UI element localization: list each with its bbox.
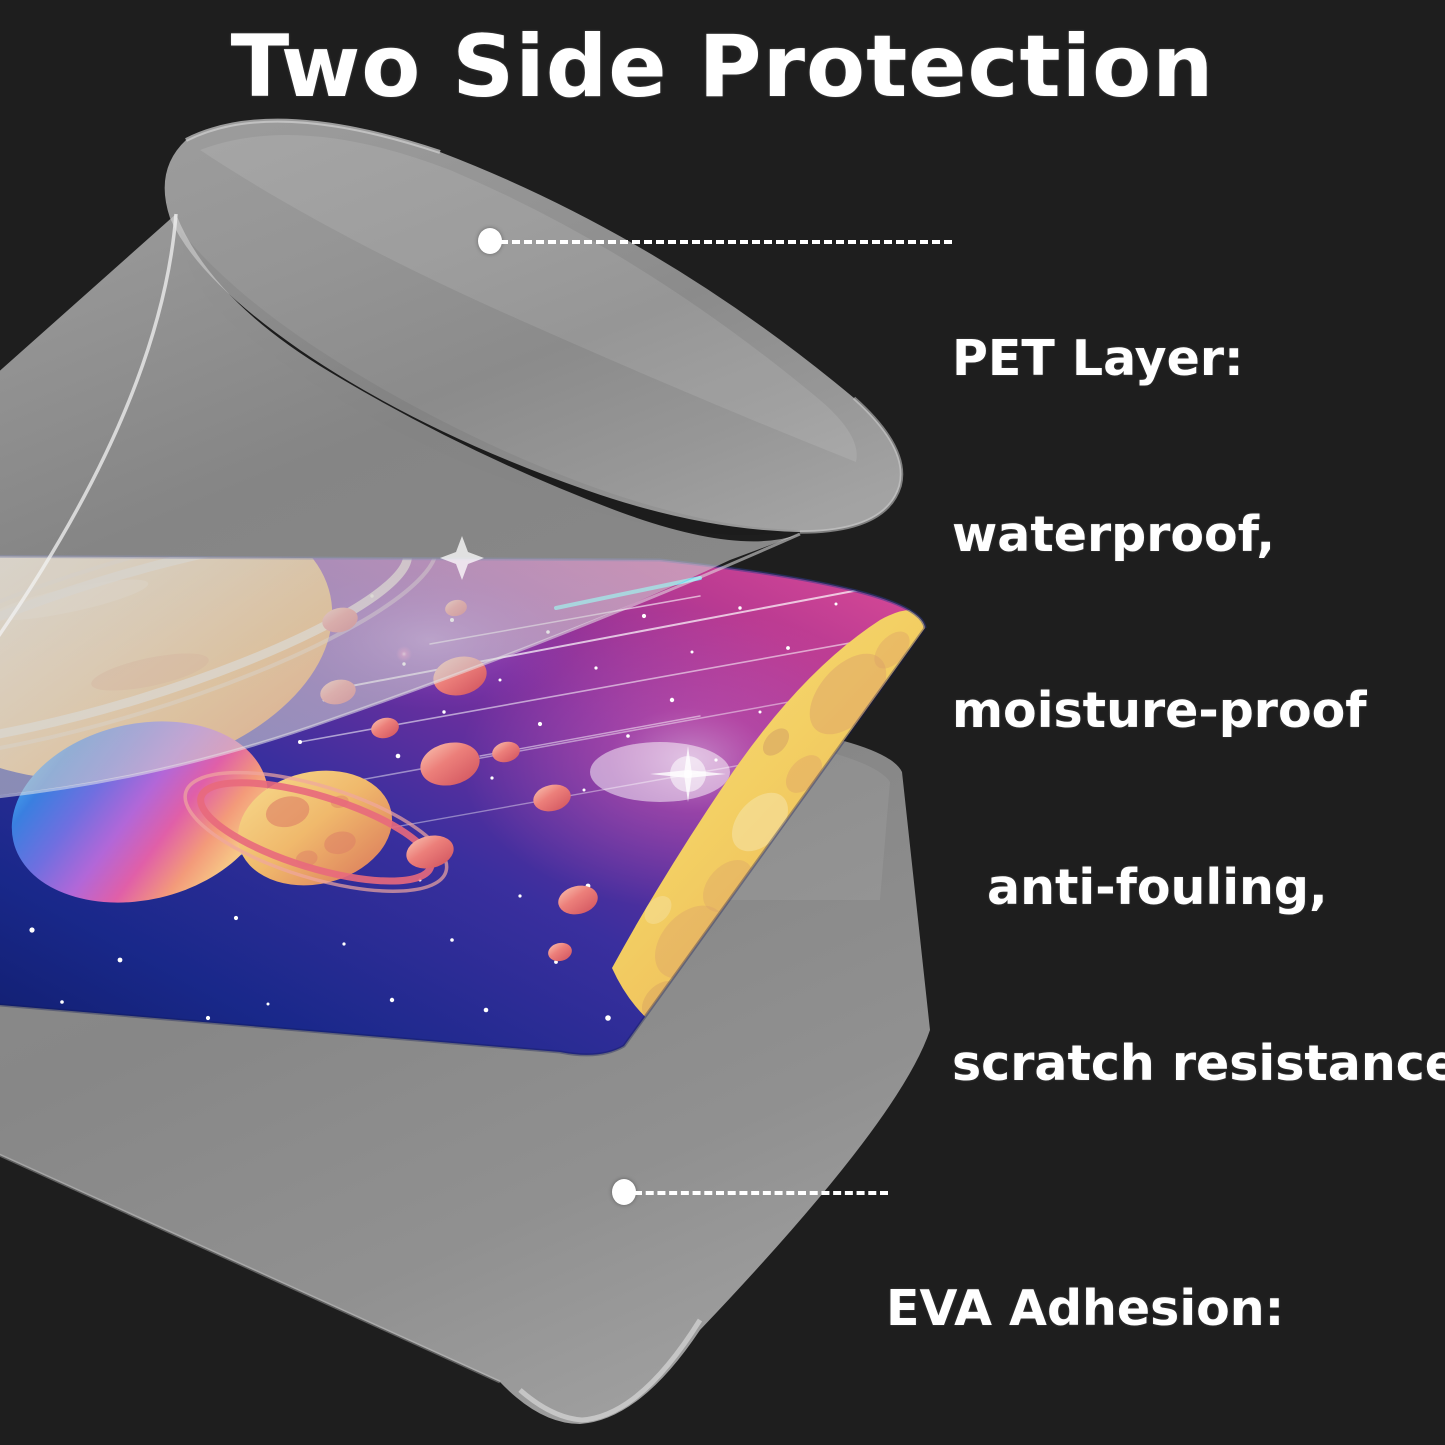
eva-line-1: EVA Adhesion:: [886, 1280, 1445, 1339]
pet-line-2: waterproof,: [952, 506, 1445, 565]
eva-callout-dot: [612, 1179, 636, 1205]
product-infographic: Two Side Protection PET Layer: waterproo…: [0, 0, 1445, 1445]
pet-line-4: anti-fouling,: [952, 859, 1445, 918]
pet-line-3: moisture-proof: [952, 682, 1445, 741]
pet-callout-leader-line: [500, 240, 952, 244]
pet-callout-dot: [478, 228, 502, 254]
pet-line-5: scratch resistance: [952, 1035, 1445, 1094]
page-title: Two Side Protection: [0, 22, 1445, 112]
eva-callout-leader-line: [634, 1191, 888, 1195]
pet-line-1: PET Layer:: [952, 330, 1445, 389]
eva-callout-text: EVA Adhesion: strong EVA adhesive layer …: [886, 1162, 1445, 1445]
pet-callout-text: PET Layer: waterproof, moisture-proof an…: [952, 212, 1445, 1212]
